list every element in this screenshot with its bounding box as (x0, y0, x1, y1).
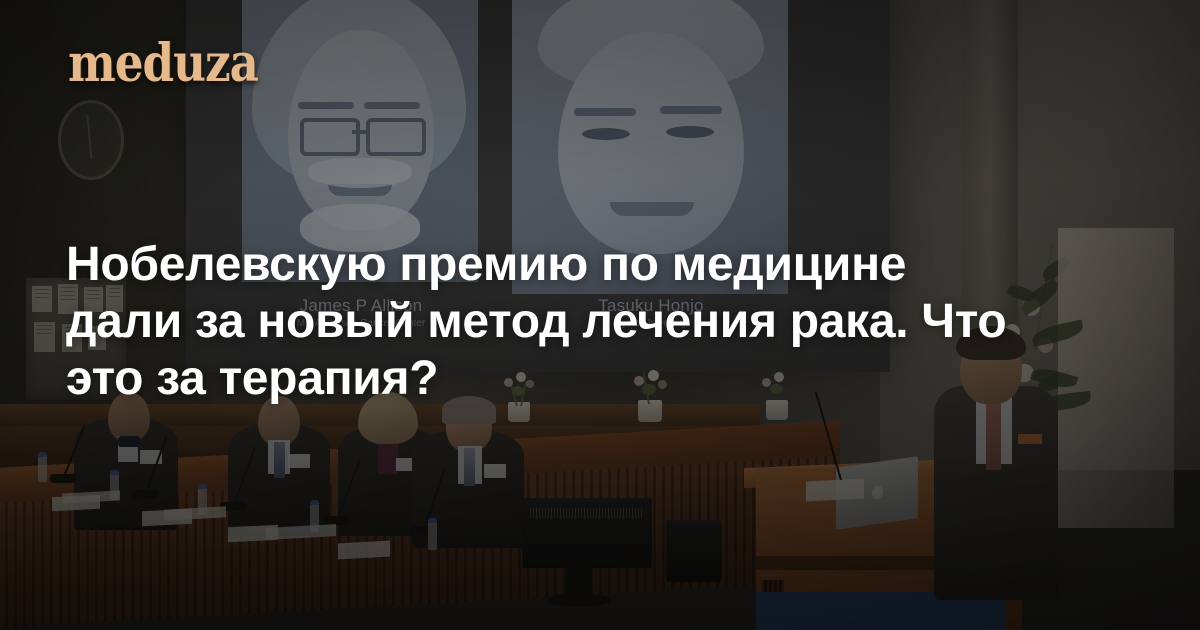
headline-line-3: это за терапия? (66, 350, 1146, 407)
headline-line-1: Нобелевскую премию по медицине (66, 236, 1146, 293)
headline-line-2: дали за новый метод лечения рака. Что (66, 293, 1146, 350)
headline: Нобелевскую премию по медицине дали за н… (66, 236, 1146, 407)
meduza-logo[interactable]: meduza (68, 33, 258, 95)
share-card: James P Allison MD Anderson Cancer Cente… (0, 0, 1200, 630)
